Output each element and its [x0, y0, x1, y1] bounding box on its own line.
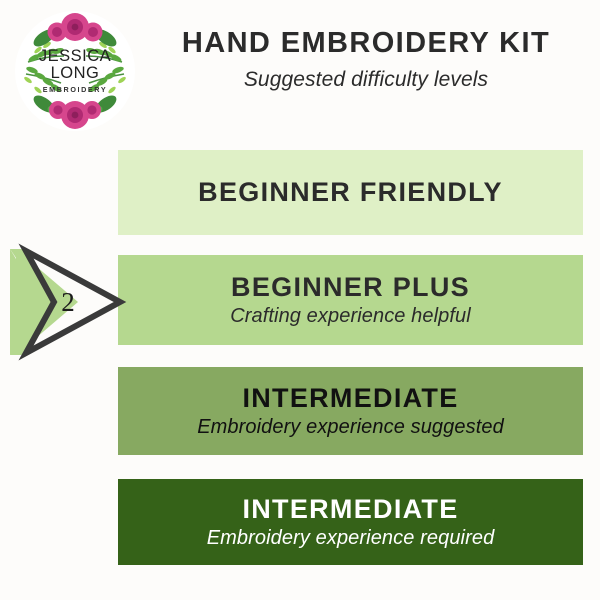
page-subtitle: Suggested difficulty levels	[140, 68, 592, 92]
level-subtitle: Embroidery experience required	[207, 527, 495, 549]
level-title: BEGINNER PLUS	[231, 273, 470, 301]
page-title: HAND EMBROIDERY KIT	[140, 28, 592, 60]
level-bar-beginner-plus: BEGINNER PLUS Crafting experience helpfu…	[118, 255, 583, 345]
level-title: BEGINNER FRIENDLY	[198, 178, 503, 206]
selected-level-marker: 2	[2, 243, 130, 361]
level-title: INTERMEDIATE	[242, 495, 458, 523]
header: HAND EMBROIDERY KIT Suggested difficulty…	[140, 28, 592, 92]
level-subtitle: Embroidery experience suggested	[197, 416, 504, 438]
level-bar-intermediate-suggested: INTERMEDIATE Embroidery experience sugge…	[118, 367, 583, 455]
level-bar-beginner-friendly: BEGINNER FRIENDLY	[118, 150, 583, 235]
infographic-page: JESSICA LONG EMBROIDERY HAND EMBROIDERY …	[0, 0, 600, 600]
level-subtitle: Crafting experience helpful	[230, 305, 471, 327]
brand-logo: JESSICA LONG EMBROIDERY	[14, 10, 136, 132]
level-bar-intermediate-required: INTERMEDIATE Embroidery experience requi…	[118, 479, 583, 565]
arrow-right-marker-icon	[2, 243, 130, 361]
difficulty-level-list: BEGINNER FRIENDLY BEGINNER PLUS Crafting…	[118, 150, 583, 565]
floral-wreath-icon	[14, 10, 136, 132]
level-title: INTERMEDIATE	[242, 384, 458, 412]
